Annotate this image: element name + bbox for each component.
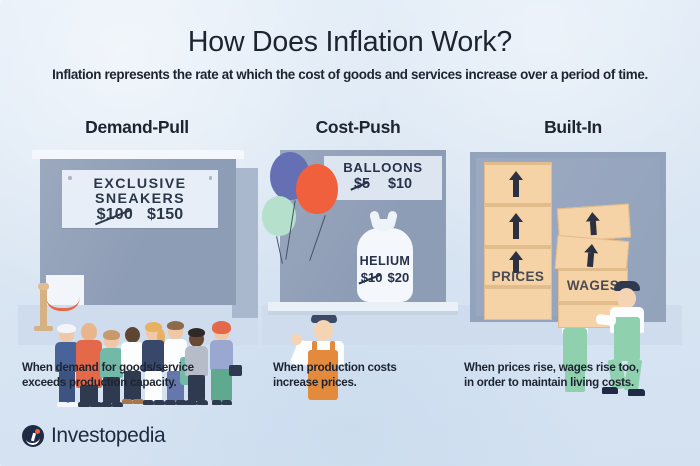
column-heading-cost-push: Cost-Push <box>258 117 458 138</box>
illustration-demand-pull: EXCLUSIVE SNEAKERS $100$150 <box>18 150 258 345</box>
old-price: $5 <box>354 176 370 192</box>
illustration-cost-push: BALLOONS $5$10 HELIUM <box>262 150 462 345</box>
stanchion-post <box>40 288 47 328</box>
person-shoe <box>101 402 112 407</box>
tank-label: HELIUM <box>335 254 435 268</box>
prices-box-second <box>484 204 552 246</box>
column-heading-built-in: Built-In <box>468 117 678 138</box>
arrow-stem <box>587 253 594 267</box>
box-tape <box>485 163 551 165</box>
person-shoe <box>186 400 197 405</box>
caption-built-in: When prices rise, wages rise too, in ord… <box>464 361 694 390</box>
person-shoe <box>197 400 208 405</box>
box-tape <box>485 205 551 207</box>
person-hair <box>167 321 184 330</box>
store-awning <box>32 150 244 159</box>
brand-name: Investopedia <box>51 424 165 448</box>
vendor-strap <box>312 341 317 355</box>
vendor-strap <box>330 341 335 355</box>
prices-box-top <box>484 162 552 204</box>
sign-line-1: EXCLUSIVE <box>62 176 218 192</box>
box-tape <box>559 303 627 305</box>
logo-dot <box>35 429 40 434</box>
person-hair <box>103 330 120 340</box>
new-price: $20 <box>388 270 410 285</box>
arrow-stem <box>513 180 519 197</box>
investopedia-mark-icon <box>22 425 44 447</box>
sign-price-row: $5$10 <box>324 176 442 192</box>
balloon-sign: BALLOONS $5$10 <box>324 156 442 200</box>
box-tape <box>485 287 551 289</box>
balloon-orange <box>296 164 338 214</box>
stanchion-top <box>38 283 49 290</box>
page-subtitle: Inflation represents the rate at which t… <box>0 67 700 82</box>
person-shoe <box>165 400 176 405</box>
caption-demand-pull: When demand for goods/service exceeds pr… <box>22 361 262 390</box>
arrow-stem <box>590 221 597 235</box>
infographic-poster: How Does Inflation Work? Inflation repre… <box>0 0 700 466</box>
helium-tank: HELIUM $10$20 <box>357 228 413 302</box>
tank-price-row: $10$20 <box>335 270 435 285</box>
person-cap <box>57 324 76 333</box>
person-hair <box>212 321 231 334</box>
column-heading-demand-pull: Demand-Pull <box>22 117 252 138</box>
person-shoe <box>122 399 133 404</box>
arrow-tip <box>509 171 523 180</box>
person-hair <box>188 328 205 337</box>
old-price: $100 <box>97 206 133 224</box>
new-price: $150 <box>147 206 183 223</box>
person-head <box>81 323 97 341</box>
booth-counter-edge <box>268 311 458 315</box>
arrow-tip <box>509 251 523 260</box>
box-tape <box>559 269 627 271</box>
new-price: $10 <box>388 176 412 192</box>
prices-box-third: PRICES <box>484 246 552 286</box>
person-hair <box>145 322 162 332</box>
sign-price-row: $100$150 <box>62 206 218 224</box>
worker-overalls <box>614 317 640 361</box>
prices-box-bottom <box>484 286 552 320</box>
booth-counter <box>268 302 458 311</box>
person-head <box>125 327 140 343</box>
person-shoe <box>143 400 154 405</box>
stanchion-base <box>34 326 53 331</box>
arrow-tip <box>509 213 523 222</box>
arrow-stem <box>513 222 519 239</box>
box-tape <box>485 247 551 249</box>
worker-arm <box>596 314 617 326</box>
worker-head <box>617 288 636 309</box>
tank-neck <box>377 219 389 231</box>
store-sign: EXCLUSIVE SNEAKERS $100$150 <box>62 170 218 228</box>
person-shoe <box>154 400 165 405</box>
person-shoe <box>222 400 232 405</box>
person-shoe <box>212 400 222 405</box>
old-price: $10 <box>361 270 383 285</box>
page-title: How Does Inflation Work? <box>0 26 700 59</box>
sign-line-1: BALLOONS <box>324 160 442 175</box>
investopedia-logo[interactable]: Investopedia <box>22 424 165 448</box>
prices-label: PRICES <box>485 269 551 284</box>
illustration-built-in: PRICES <box>462 150 682 345</box>
sign-line-2: SNEAKERS <box>62 191 218 207</box>
caption-cost-push: When production costs increase prices. <box>273 361 463 390</box>
person-shoe <box>78 402 90 407</box>
vendor-head <box>314 320 333 341</box>
vendor-hand <box>291 334 302 345</box>
